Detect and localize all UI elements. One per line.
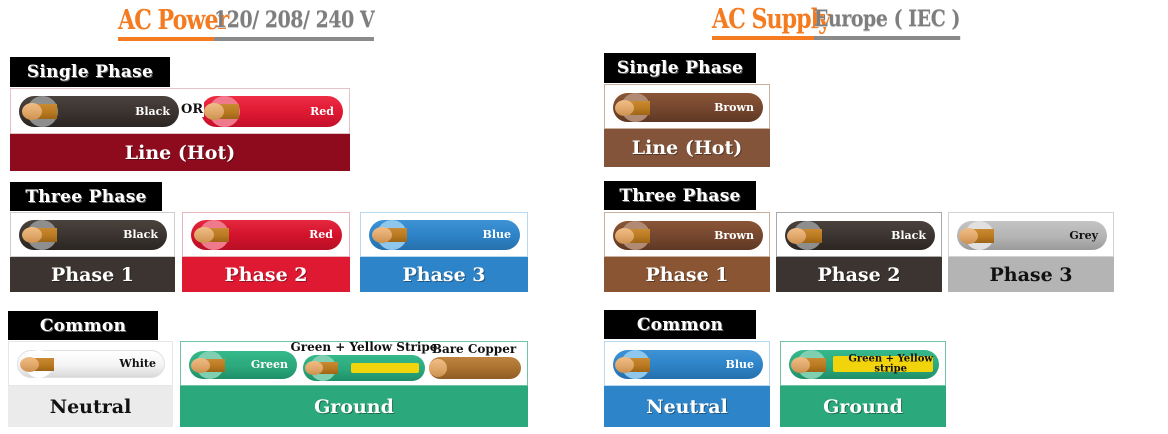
wire-label: Brown xyxy=(714,230,754,242)
panel-ac-power: AC Power120/ 208/ 240 V Single Phase Bla… xyxy=(0,0,584,434)
wire-tip xyxy=(615,357,634,373)
wirebox: Red xyxy=(182,212,350,257)
wire-label: Red xyxy=(309,229,333,241)
card-caption: Phase 1 xyxy=(604,257,770,292)
wire-brown: Brown xyxy=(613,93,763,122)
wire-tip xyxy=(787,228,806,244)
card-line-hot: Black OR Red Line (Hot) xyxy=(10,88,350,171)
wire-label-group: Green + Yellow stripe xyxy=(848,354,933,375)
wire-green-yellow-stripe: Green + Yellow stripe xyxy=(789,350,939,379)
card-caption: Line (Hot) xyxy=(604,129,770,167)
card-phase-2: Black Phase 2 xyxy=(776,212,942,292)
card-caption: Neutral xyxy=(604,386,770,427)
wirebox: Brown xyxy=(604,212,770,257)
wire-tip xyxy=(615,100,634,116)
wire-label: Black xyxy=(123,229,158,241)
card-line-hot: Brown Line (Hot) xyxy=(604,84,770,167)
wire-label: Red xyxy=(310,106,334,118)
wire-tip xyxy=(20,357,39,372)
wire-brown: Brown xyxy=(613,221,763,250)
title-sub-text: 120/ 208/ 240 V xyxy=(214,7,374,41)
wire-label: Grey xyxy=(1069,230,1098,242)
wire-tip xyxy=(615,228,634,244)
wirebox: Blue xyxy=(360,212,528,257)
card-neutral: Blue Neutral xyxy=(604,341,770,427)
wire-blue: Blue xyxy=(369,220,520,250)
title-main-text: AC Power xyxy=(118,5,228,41)
wirebox: Green Green + Yellow Stripe Bare Copper xyxy=(180,341,528,386)
wirebox: White xyxy=(8,341,173,386)
card-caption: Phase 1 xyxy=(10,257,175,292)
wire-green: Green xyxy=(189,351,297,379)
card-phase-1: Black Phase 1 xyxy=(10,212,175,292)
card-caption: Line (Hot) xyxy=(10,134,350,171)
title-main-text: AC Supply xyxy=(712,4,830,40)
or-connector-text: OR xyxy=(180,102,204,117)
wire-label: Blue xyxy=(726,359,754,371)
wirebox: Black OR Red xyxy=(10,88,350,134)
wire-label: Blue xyxy=(483,229,511,241)
wire-tip xyxy=(959,228,978,244)
title-ac-supply: AC SupplyEurope ( IEC ) xyxy=(712,4,984,40)
panel-ac-supply: AC SupplyEurope ( IEC ) Single Phase Bro… xyxy=(584,0,1168,434)
section-label-three-phase: Three Phase xyxy=(604,181,756,210)
wire-tip xyxy=(22,103,42,120)
wire-green-yellow-stripe xyxy=(303,355,425,381)
wire-label: White xyxy=(119,358,156,370)
section-label-common: Common xyxy=(604,310,756,339)
section-label-three-phase: Three Phase xyxy=(10,182,162,211)
wire-black: Black xyxy=(19,220,167,250)
card-caption: Ground xyxy=(180,386,528,427)
wire-label: Black xyxy=(135,106,170,118)
wire-tip xyxy=(22,227,42,243)
wire-title-bare-copper: Bare Copper xyxy=(419,342,529,356)
card-phase-1: Brown Phase 1 xyxy=(604,212,770,292)
title-sub-text: Europe ( IEC ) xyxy=(814,6,960,40)
wirebox: Grey xyxy=(948,212,1114,257)
wire-grey: Grey xyxy=(957,221,1107,250)
card-neutral: White Neutral xyxy=(8,341,173,427)
wire-tip xyxy=(372,227,392,243)
wire-label: Black xyxy=(891,230,926,242)
wire-blue: Blue xyxy=(613,350,763,379)
section-label-single-phase: Single Phase xyxy=(10,57,170,87)
wire-label: Brown xyxy=(714,102,754,114)
card-caption: Phase 3 xyxy=(360,257,528,292)
wire-tip xyxy=(429,359,447,377)
card-caption: Phase 2 xyxy=(776,257,942,292)
wirebox: Black xyxy=(776,212,942,257)
wire-black: Black xyxy=(785,221,935,250)
wire-title-green-yellow: Green + Yellow Stripe xyxy=(289,340,439,354)
card-phase-2: Red Phase 2 xyxy=(182,212,350,292)
card-ground: Green Green + Yellow Stripe Bare Copper … xyxy=(180,341,528,427)
title-ac-power: AC Power120/ 208/ 240 V xyxy=(118,5,401,41)
card-phase-3: Blue Phase 3 xyxy=(360,212,528,292)
wire-red: Red xyxy=(191,220,342,250)
wire-tip xyxy=(191,358,210,373)
wirebox: Blue xyxy=(604,341,770,386)
section-label-single-phase: Single Phase xyxy=(604,53,756,83)
wirebox: Green + Yellow stripe xyxy=(780,341,946,386)
wire-label-secondary: stripe xyxy=(874,364,907,375)
wire-tip xyxy=(305,361,323,375)
wire-tip xyxy=(194,227,214,243)
wire-bare-copper xyxy=(429,357,521,379)
card-caption: Phase 3 xyxy=(948,257,1114,292)
wirebox: Black xyxy=(10,212,175,257)
wire-white: White xyxy=(17,350,165,378)
wire-tip xyxy=(204,103,224,120)
card-caption: Ground xyxy=(780,386,946,427)
card-ground: Green + Yellow stripe Ground xyxy=(780,341,946,427)
card-phase-3: Grey Phase 3 xyxy=(948,212,1114,292)
wire-red: Red xyxy=(201,96,343,127)
card-caption: Neutral xyxy=(8,386,173,427)
wirebox: Brown xyxy=(604,84,770,129)
wire-tip xyxy=(791,357,810,373)
wire-black: Black xyxy=(19,96,179,127)
wire-label: Green + Yellow xyxy=(848,353,933,364)
section-label-common: Common xyxy=(8,311,158,340)
wire-stripe xyxy=(351,363,419,373)
card-caption: Phase 2 xyxy=(182,257,350,292)
wire-label: Green xyxy=(251,359,288,371)
